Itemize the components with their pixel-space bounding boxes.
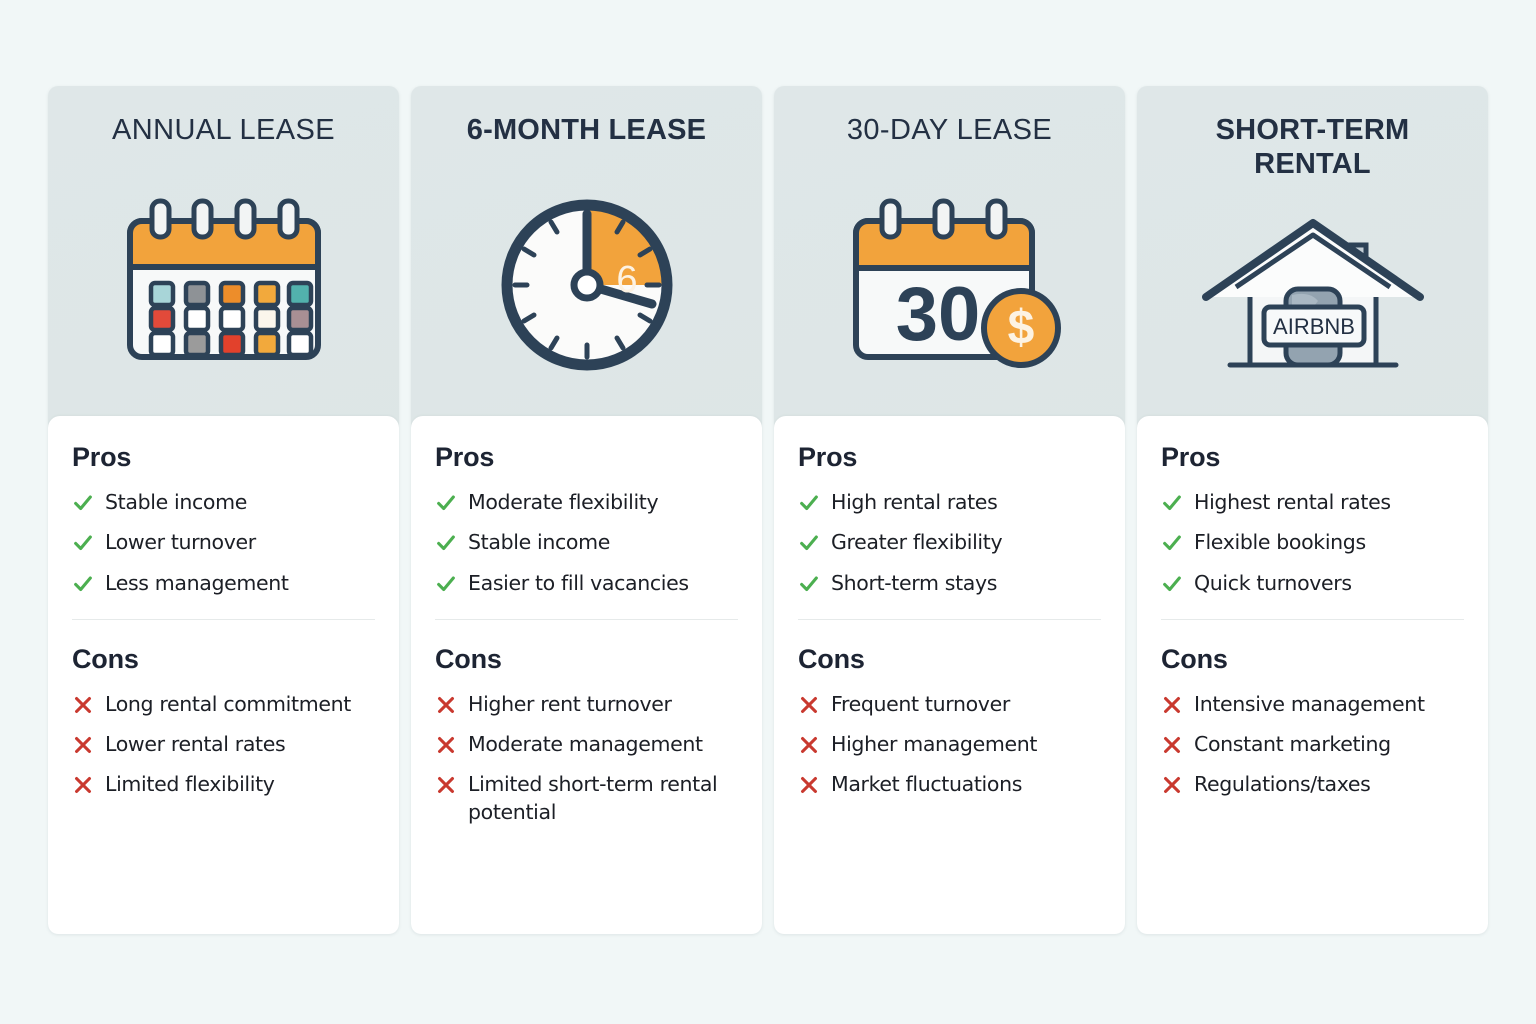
card-body: Pros Stable income Lower turnover Less m… — [48, 416, 399, 934]
list-item: Constant marketing — [1161, 731, 1464, 758]
list-item: Greater flexibility — [798, 529, 1101, 556]
cross-icon — [72, 733, 94, 757]
list-item-label: Intensive management — [1194, 691, 1425, 718]
card-header: 30-DAY LEASE 30 $ — [774, 86, 1125, 422]
list-item: Limited flexibility — [72, 771, 375, 798]
cross-icon — [72, 693, 94, 717]
cons-list: Intensive management Constant marketing … — [1161, 691, 1464, 799]
list-item: Moderate management — [435, 731, 738, 758]
list-item: Market fluctuations — [798, 771, 1101, 798]
cross-icon — [435, 693, 457, 717]
list-item: Highest rental rates — [1161, 489, 1464, 516]
list-item: Easier to fill vacancies — [435, 570, 738, 597]
list-item: Higher rent turnover — [435, 691, 738, 718]
list-item-label: Stable income — [105, 489, 247, 516]
pros-heading: Pros — [1161, 442, 1464, 473]
list-item-label: Frequent turnover — [831, 691, 1010, 718]
cross-icon — [1161, 773, 1183, 797]
cons-heading: Cons — [435, 644, 738, 675]
list-item: Stable income — [435, 529, 738, 556]
list-item-label: Higher management — [831, 731, 1037, 758]
list-item: Quick turnovers — [1161, 570, 1464, 597]
clock-six-icon: 6 — [411, 148, 762, 422]
list-item-label: Highest rental rates — [1194, 489, 1391, 516]
list-item: Less management — [72, 570, 375, 597]
list-item-label: Limited flexibility — [105, 771, 275, 798]
page-title: ANNUAL LEASE — [96, 114, 351, 148]
dollar-sign-icon: $ — [1008, 301, 1035, 354]
house-airbnb-icon: AIRBNB — [1137, 181, 1488, 422]
list-item-label: Lower turnover — [105, 529, 256, 556]
cons-list: Frequent turnover Higher management Mark… — [798, 691, 1101, 799]
pros-heading: Pros — [435, 442, 738, 473]
list-item: Flexible bookings — [1161, 529, 1464, 556]
cross-icon — [1161, 693, 1183, 717]
list-item-label: Flexible bookings — [1194, 529, 1366, 556]
house-airbnb-icon-svg: AIRBNB — [1188, 211, 1438, 386]
list-item: Moderate flexibility — [435, 489, 738, 516]
card-header: SHORT-TERM RENTAL AIRBNB — [1137, 86, 1488, 422]
card-header: 6-MONTH LEASE — [411, 86, 762, 422]
section-divider — [72, 619, 375, 620]
list-item-label: Short-term stays — [831, 570, 997, 597]
pros-heading: Pros — [798, 442, 1101, 473]
page-title: 30-DAY LEASE — [831, 114, 1068, 148]
cons-list: Long rental commitment Lower rental rate… — [72, 691, 375, 799]
list-item: Short-term stays — [798, 570, 1101, 597]
pros-list: High rental rates Greater flexibility Sh… — [798, 489, 1101, 597]
check-icon — [1161, 572, 1183, 596]
calendar-grid-icon-svg — [104, 187, 344, 377]
page-title: SHORT-TERM RENTAL — [1148, 114, 1478, 181]
check-icon — [1161, 531, 1183, 555]
page-title: 6-MONTH LEASE — [451, 114, 722, 148]
pros-list: Highest rental rates Flexible bookings Q… — [1161, 489, 1464, 597]
list-item-label: Quick turnovers — [1194, 570, 1352, 597]
list-item-label: Moderate flexibility — [468, 489, 658, 516]
card-body: Pros High rental rates Greater flexibili… — [774, 416, 1125, 934]
pros-heading: Pros — [72, 442, 375, 473]
check-icon — [798, 572, 820, 596]
list-item: Limited short-term rental potential — [435, 771, 738, 826]
cross-icon — [435, 733, 457, 757]
cons-heading: Cons — [798, 644, 1101, 675]
list-item-label: High rental rates — [831, 489, 997, 516]
cross-icon — [72, 773, 94, 797]
list-item: Intensive management — [1161, 691, 1464, 718]
check-icon — [72, 572, 94, 596]
list-item: Lower turnover — [72, 529, 375, 556]
card-annual-lease[interactable]: ANNUAL LEASE — [48, 86, 399, 934]
list-item: Regulations/taxes — [1161, 771, 1464, 798]
check-icon — [1161, 491, 1183, 515]
cons-heading: Cons — [72, 644, 375, 675]
list-item-label: Easier to fill vacancies — [468, 570, 689, 597]
cross-icon — [798, 733, 820, 757]
list-item: High rental rates — [798, 489, 1101, 516]
airbnb-sign-label: AIRBNB — [1273, 314, 1355, 339]
list-item: Higher management — [798, 731, 1101, 758]
check-icon — [435, 491, 457, 515]
card-six-month-lease[interactable]: 6-MONTH LEASE — [411, 86, 762, 934]
list-item-label: Greater flexibility — [831, 529, 1002, 556]
cross-icon — [798, 773, 820, 797]
cross-icon — [798, 693, 820, 717]
list-item-label: Constant marketing — [1194, 731, 1391, 758]
card-short-term-rental[interactable]: SHORT-TERM RENTAL AIRBNB Pros — [1137, 86, 1488, 934]
clock-six-icon-svg: 6 — [482, 182, 692, 382]
check-icon — [72, 531, 94, 555]
cons-block: Cons Long rental commitment Lower rental… — [72, 640, 375, 912]
clock-six-label: 6 — [616, 259, 637, 301]
list-item-label: Less management — [105, 570, 289, 597]
list-item-label: Long rental commitment — [105, 691, 351, 718]
pros-list: Moderate flexibility Stable income Easie… — [435, 489, 738, 597]
check-icon — [435, 572, 457, 596]
calendar-grid-icon — [48, 148, 399, 422]
list-item: Long rental commitment — [72, 691, 375, 718]
list-item-label: Regulations/taxes — [1194, 771, 1371, 798]
list-item: Lower rental rates — [72, 731, 375, 758]
comparison-cards-board: ANNUAL LEASE — [48, 86, 1488, 934]
cross-icon — [1161, 733, 1183, 757]
list-item-label: Higher rent turnover — [468, 691, 672, 718]
check-icon — [798, 491, 820, 515]
card-thirty-day-lease[interactable]: 30-DAY LEASE 30 $ Pros — [774, 86, 1125, 934]
section-divider — [798, 619, 1101, 620]
calendar-thirty-dollar-icon-svg: 30 $ — [832, 187, 1067, 377]
calendar-day-number: 30 — [896, 272, 981, 357]
pros-list: Stable income Lower turnover Less manage… — [72, 489, 375, 597]
list-item-label: Market fluctuations — [831, 771, 1022, 798]
section-divider — [1161, 619, 1464, 620]
list-item-label: Moderate management — [468, 731, 703, 758]
card-body: Pros Highest rental rates Flexible booki… — [1137, 416, 1488, 934]
cons-block: Cons Higher rent turnover Moderate manag… — [435, 640, 738, 912]
section-divider — [435, 619, 738, 620]
check-icon — [798, 531, 820, 555]
cons-list: Higher rent turnover Moderate management… — [435, 691, 738, 826]
cons-block: Cons Frequent turnover Higher management… — [798, 640, 1101, 912]
list-item: Stable income — [72, 489, 375, 516]
card-header: ANNUAL LEASE — [48, 86, 399, 422]
list-item-label: Limited short-term rental potential — [468, 771, 738, 826]
cons-block: Cons Intensive management Constant marke… — [1161, 640, 1464, 912]
cons-heading: Cons — [1161, 644, 1464, 675]
list-item-label: Lower rental rates — [105, 731, 285, 758]
check-icon — [72, 491, 94, 515]
list-item-label: Stable income — [468, 529, 610, 556]
calendar-thirty-dollar-icon: 30 $ — [774, 148, 1125, 422]
card-body: Pros Moderate flexibility Stable income … — [411, 416, 762, 934]
check-icon — [435, 531, 457, 555]
cross-icon — [435, 773, 457, 797]
list-item: Frequent turnover — [798, 691, 1101, 718]
